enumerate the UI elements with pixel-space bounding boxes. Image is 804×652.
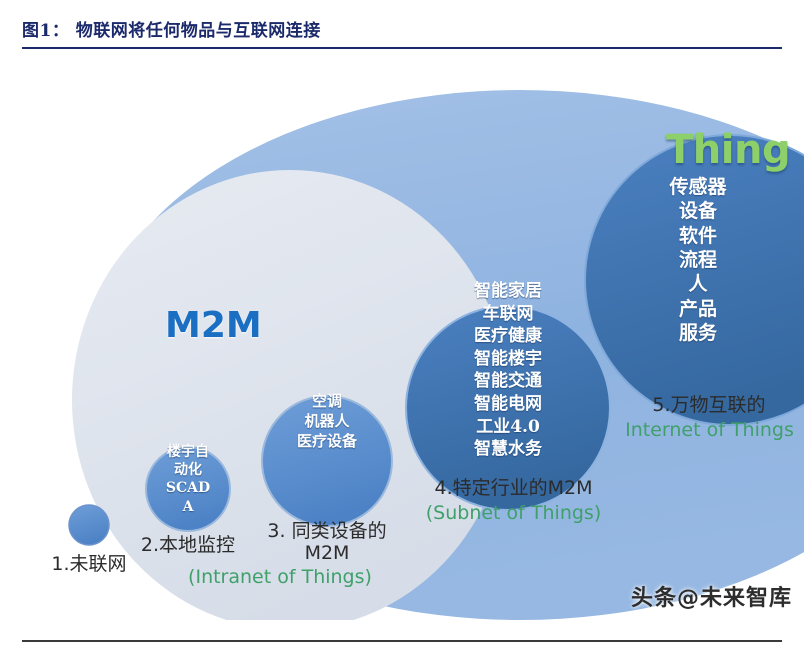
thing-item: 设备 <box>638 199 758 223</box>
thing-item: 人 <box>638 272 758 296</box>
iot-concentric-diagram: M2M Thing 传感器 设备 软件 流程 人 产品 服务 智能家居 车联网 … <box>0 55 804 620</box>
diagram-labels: M2M Thing 传感器 设备 软件 流程 人 产品 服务 智能家居 车联网 … <box>0 55 804 620</box>
figure-header: 图1： 物联网将任何物品与互联网连接 <box>0 0 804 55</box>
thing-item: 服务 <box>638 321 758 345</box>
caption-stage-4: 4.特定行业的M2M <box>406 478 621 499</box>
stage4-item: 智能楼宇 <box>428 348 588 371</box>
stage4-item: 工业4.0 <box>428 416 588 439</box>
caption-internet-of-things: Internet of Things <box>612 419 804 441</box>
stage3-item: 机器人 <box>262 412 392 432</box>
stage4-item: 智能交通 <box>428 370 588 393</box>
thing-item: 软件 <box>638 224 758 248</box>
stage2-item: 楼宇自 <box>148 443 228 461</box>
caption-subnet-of-things: (Subnet of Things) <box>406 502 621 524</box>
watermark: 头条@未来智库 <box>631 580 792 612</box>
caption-intranet-of-things: (Intranet of Things) <box>170 566 390 588</box>
circle-thing-items: 传感器 设备 软件 流程 人 产品 服务 <box>638 175 758 345</box>
circle-stage-3-items: 空调 机器人 医疗设备 <box>262 392 392 451</box>
m2m-region-label: M2M <box>165 305 262 346</box>
caption-stage-3: 3. 同类设备的 <box>242 521 412 542</box>
caption-stage-5: 5.万物互联的 <box>614 395 804 416</box>
stage4-item: 智能家居 <box>428 280 588 303</box>
thing-item: 产品 <box>638 297 758 321</box>
circle-stage-2-items: 楼宇自 动化 SCAD A <box>148 443 228 516</box>
caption-stage-1: 1.未联网 <box>24 554 154 575</box>
thing-item: 流程 <box>638 248 758 272</box>
header-divider <box>22 47 782 49</box>
circle-stage-4-items: 智能家居 车联网 医疗健康 智能楼宇 智能交通 智能电网 工业4.0 智慧水务 <box>428 280 588 461</box>
stage3-item: 医疗设备 <box>262 432 392 452</box>
stage2-item: 动化 <box>148 461 228 479</box>
thing-region-label: Thing <box>666 127 790 173</box>
stage4-item: 车联网 <box>428 303 588 326</box>
stage4-item: 智慧水务 <box>428 438 588 461</box>
stage4-item: 医疗健康 <box>428 325 588 348</box>
stage2-item: SCAD <box>148 479 228 497</box>
stage2-item: A <box>148 498 228 516</box>
stage4-item: 智能电网 <box>428 393 588 416</box>
thing-item: 传感器 <box>638 175 758 199</box>
footer-divider <box>22 640 782 642</box>
stage3-item: 空调 <box>262 392 392 412</box>
page-title: 图1： 物联网将任何物品与互联网连接 <box>22 16 321 41</box>
caption-stage-3-line2: M2M <box>242 543 412 564</box>
caption-stage-2: 2.本地监控 <box>123 535 253 556</box>
